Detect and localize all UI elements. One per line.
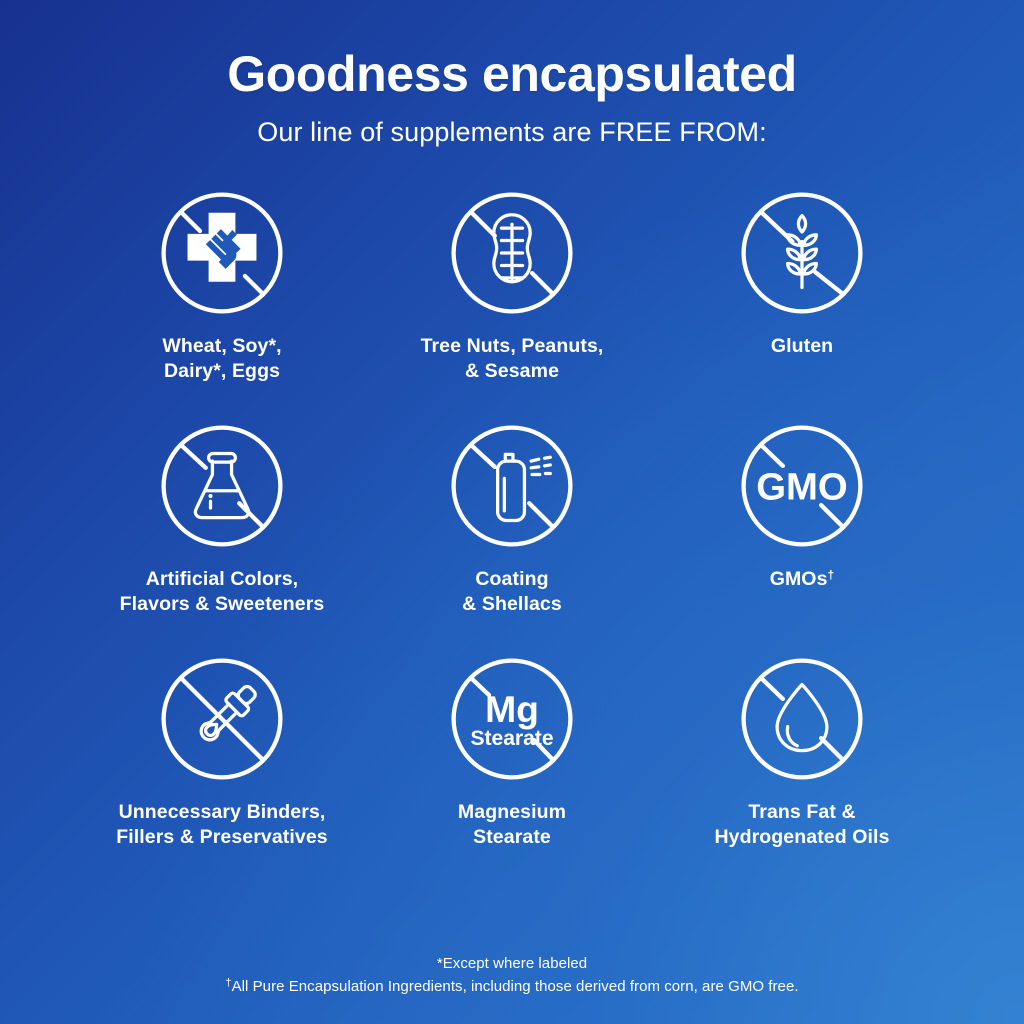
grid-item-label: Artificial Colors, Flavors & Sweeteners <box>120 567 325 617</box>
grid-item-label-text: GMOs <box>770 568 828 590</box>
grid-item-gmos: GMO GMOs† <box>657 419 947 652</box>
erlenmeyer-flask-icon <box>155 419 289 553</box>
grid-item-label: Coating & Shellacs <box>462 567 562 617</box>
mg-glyph-text: Mg <box>485 688 539 730</box>
grid-item-label: Trans Fat & Hydrogenated Oils <box>714 800 889 850</box>
grid-item-coating-shellacs: Coating & Shellacs <box>367 419 657 652</box>
grid-item-trans-fat-hydrogenated-oils: Trans Fat & Hydrogenated Oils <box>657 652 947 885</box>
grid-item-label: Tree Nuts, Peanuts, & Sesame <box>421 334 604 384</box>
free-from-grid: Wheat, Soy*, Dairy*, Eggs Tre <box>77 186 947 885</box>
grid-item-label: Wheat, Soy*, Dairy*, Eggs <box>162 334 281 384</box>
grid-item-magnesium-stearate: Mg Stearate Magnesium Stearate <box>367 652 657 885</box>
grid-item-label: GMOs† <box>770 567 835 592</box>
gmo-text-icon: GMO <box>735 419 869 553</box>
mg-stearate-text-icon: Mg Stearate <box>445 652 579 786</box>
medical-cross-fork-icon <box>155 186 289 320</box>
gmo-glyph-text: GMO <box>756 466 847 509</box>
grid-item-artificial-colors-flavors-sweeteners: Artificial Colors, Flavors & Sweeteners <box>77 419 367 652</box>
footnotes: *Except where labeled †All Pure Encapsul… <box>0 952 1024 999</box>
grid-item-label: Magnesium Stearate <box>458 800 566 850</box>
stearate-glyph-text: Stearate <box>470 727 553 750</box>
grid-item-unnecessary-binders-fillers-preservatives: Unnecessary Binders, Fillers & Preservat… <box>77 652 367 885</box>
page-title: Goodness encapsulated <box>0 46 1024 102</box>
peanut-icon <box>445 186 579 320</box>
dropper-pipette-icon <box>155 652 289 786</box>
wheat-stalk-icon <box>735 186 869 320</box>
footnote-asterisk: *Except where labeled <box>0 952 1024 975</box>
grid-item-gluten: Gluten <box>657 186 947 419</box>
oil-droplet-icon <box>735 652 869 786</box>
poster-header: Goodness encapsulated Our line of supple… <box>0 0 1024 148</box>
footnote-dagger-text: All Pure Encapsulation Ingredients, incl… <box>232 978 799 995</box>
spray-can-icon <box>445 419 579 553</box>
footnote-dagger: †All Pure Encapsulation Ingredients, inc… <box>0 975 1024 998</box>
grid-item-label: Gluten <box>771 334 833 359</box>
poster-root: Goodness encapsulated Our line of supple… <box>0 0 1024 1024</box>
grid-item-label: Unnecessary Binders, Fillers & Preservat… <box>116 800 328 850</box>
dagger-superscript: † <box>828 568 835 582</box>
grid-item-tree-nuts-peanuts-sesame: Tree Nuts, Peanuts, & Sesame <box>367 186 657 419</box>
grid-item-wheat-soy-dairy-eggs: Wheat, Soy*, Dairy*, Eggs <box>77 186 367 419</box>
page-subtitle: Our line of supplements are FREE FROM: <box>0 116 1024 148</box>
